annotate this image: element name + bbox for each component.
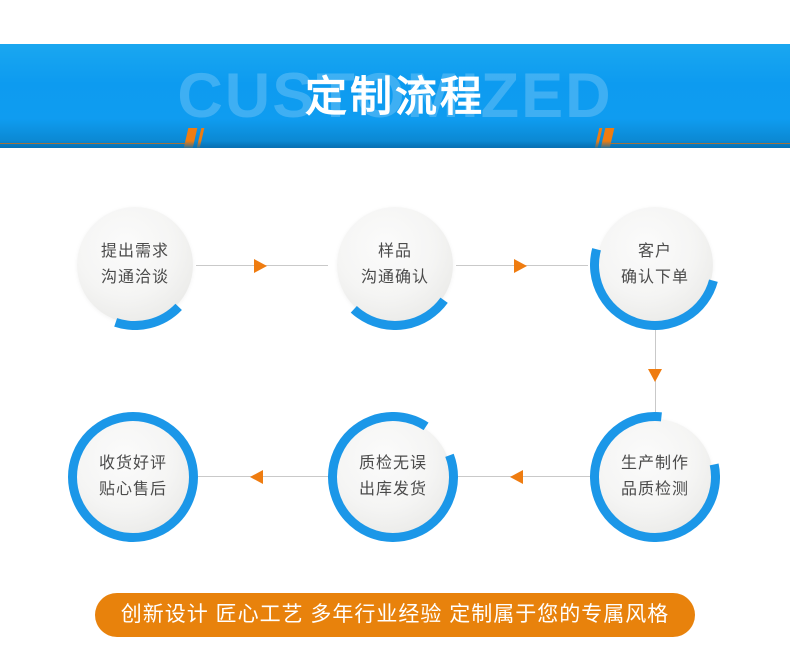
step-label-line1: 提出需求 bbox=[101, 239, 169, 265]
header-banner: CUSTOMIZED 定制流程 bbox=[0, 44, 790, 148]
flow-step-2[interactable]: 样品 沟通确认 bbox=[330, 200, 460, 330]
flow-step-5[interactable]: 质检无误 出库发货 bbox=[328, 412, 458, 542]
page-title: 定制流程 bbox=[0, 44, 790, 148]
step-label: 提出需求 沟通洽谈 bbox=[70, 200, 200, 330]
process-flow-diagram: 提出需求 沟通洽谈 样品 沟通确认 客户 确认下单 生产制作 品 bbox=[0, 148, 790, 578]
step-label: 质检无误 出库发货 bbox=[328, 412, 458, 542]
step-label-line1: 质检无误 bbox=[359, 451, 427, 477]
step-label-line1: 客户 bbox=[638, 239, 672, 265]
step-label-line1: 收货好评 bbox=[99, 451, 167, 477]
flow-step-6[interactable]: 收货好评 贴心售后 bbox=[68, 412, 198, 542]
step-label-line2: 沟通洽谈 bbox=[101, 265, 169, 291]
step-label-line2: 品质检测 bbox=[621, 477, 689, 503]
step-label: 客户 确认下单 bbox=[590, 200, 720, 330]
arrow-left-icon bbox=[510, 470, 523, 484]
step-label: 生产制作 品质检测 bbox=[590, 412, 720, 542]
arrow-down-icon bbox=[648, 369, 662, 382]
arrow-right-icon bbox=[514, 259, 527, 273]
step-label-line2: 贴心售后 bbox=[99, 477, 167, 503]
flow-step-3[interactable]: 客户 确认下单 bbox=[590, 200, 720, 330]
header-rule-left bbox=[0, 143, 188, 144]
step-label: 样品 沟通确认 bbox=[330, 200, 460, 330]
step-label-line1: 样品 bbox=[378, 239, 412, 265]
step-label: 收货好评 贴心售后 bbox=[68, 412, 198, 542]
footer-slogan-banner: 创新设计 匠心工艺 多年行业经验 定制属于您的专属风格 bbox=[95, 593, 695, 637]
flow-step-4[interactable]: 生产制作 品质检测 bbox=[590, 412, 720, 542]
step-label-line2: 沟通确认 bbox=[361, 265, 429, 291]
arrow-right-icon bbox=[254, 259, 267, 273]
header-rule-right bbox=[604, 143, 790, 144]
step-label-line2: 出库发货 bbox=[359, 477, 427, 503]
connector-step4-step5 bbox=[458, 476, 590, 477]
connector-step5-step6 bbox=[198, 476, 330, 477]
flow-step-1[interactable]: 提出需求 沟通洽谈 bbox=[70, 200, 200, 330]
step-label-line1: 生产制作 bbox=[621, 451, 689, 477]
step-label-line2: 确认下单 bbox=[621, 265, 689, 291]
arrow-left-icon bbox=[250, 470, 263, 484]
